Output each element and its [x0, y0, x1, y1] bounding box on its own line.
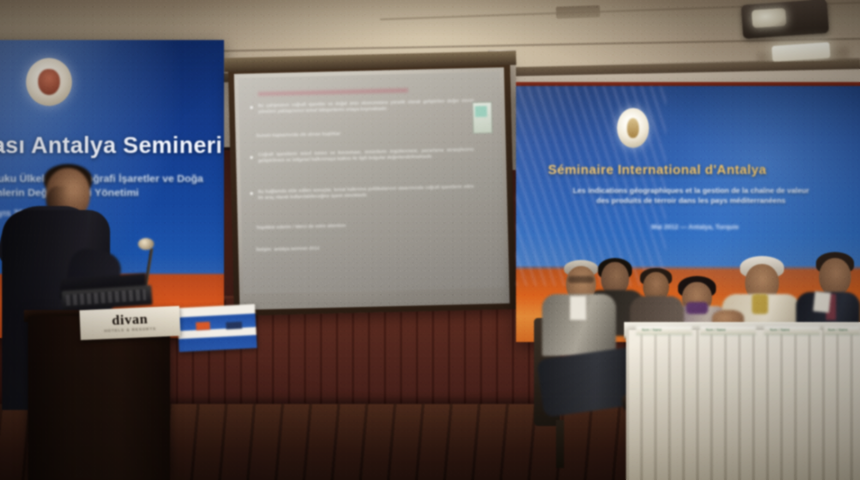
projector-lens-icon [751, 8, 786, 28]
nameplate-label: Nom / Name [828, 328, 848, 332]
nameplate-label: Nom / Name [642, 328, 662, 332]
slide-bullet-icon [250, 156, 253, 159]
microphone-icon [138, 238, 154, 250]
panel-table-cloth [626, 330, 860, 480]
shirt [570, 296, 586, 320]
lectern-brand-name: divan [112, 313, 149, 328]
floor-sign-logo-icon [196, 322, 210, 331]
tie [752, 294, 768, 314]
lectern-brand-tagline: HOTELS & RESORTS [104, 327, 156, 333]
floor-sign-logo-icon [226, 322, 242, 330]
presentation-software-logo-mark [475, 106, 487, 117]
slide-bullet-icon [250, 192, 253, 195]
speaker-lectern [28, 316, 170, 480]
panel-chair-leg [556, 420, 564, 468]
conference-photo: arası Antalya Semineri Hukuku Ülkelerind… [0, 0, 860, 480]
ceiling-air-vent-icon [556, 5, 600, 19]
shirt-collar [813, 291, 831, 313]
floor-sign [177, 304, 257, 352]
eyeglasses-icon [568, 276, 594, 283]
lectern-brand-plaque: divan HOTELS & RESORTS [79, 306, 180, 340]
slide-bullet-icon [250, 106, 253, 109]
nameplate-label: Nom / Name [706, 328, 726, 332]
nameplate-label: Nom / Name [770, 328, 790, 332]
banner-light-reflection [516, 86, 860, 266]
scarf [686, 302, 708, 314]
head [819, 258, 851, 296]
